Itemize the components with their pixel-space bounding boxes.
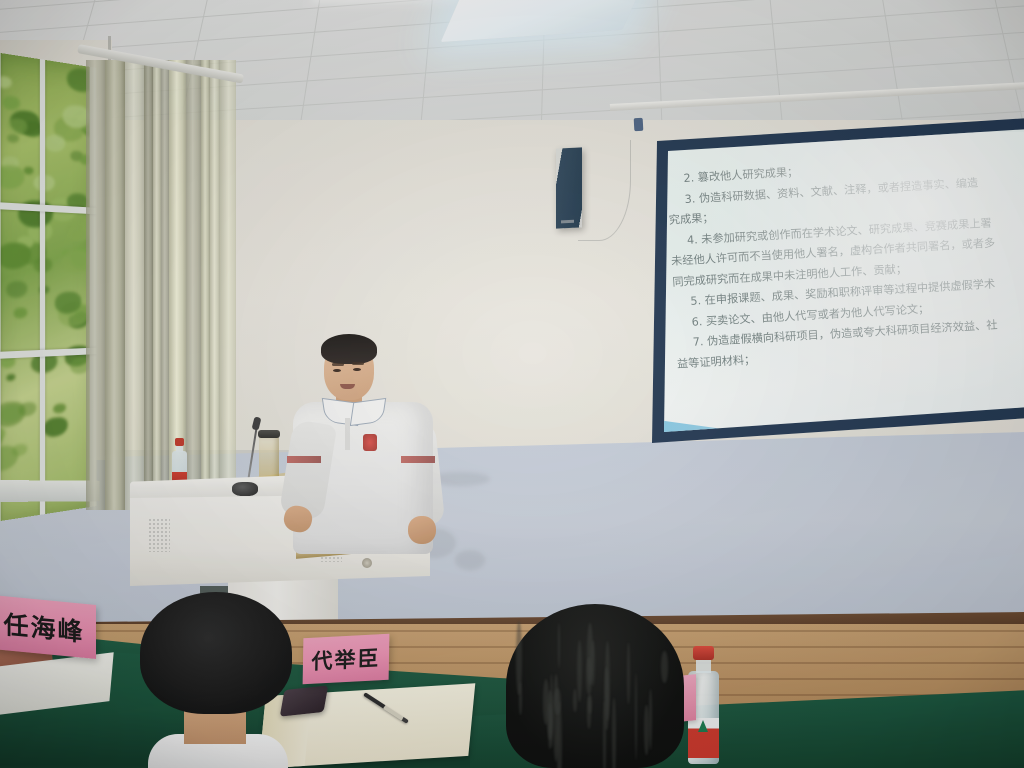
foliage-leaf	[53, 403, 66, 414]
audience-hair	[140, 592, 292, 714]
foliage-leaf	[0, 242, 31, 269]
window-sill	[0, 480, 100, 502]
polo-placket	[345, 418, 350, 450]
window-curtain	[86, 60, 236, 510]
window-mullion	[0, 52, 1, 522]
foliage-leaf	[0, 75, 11, 89]
hair-strand	[612, 698, 616, 768]
hair-strand	[573, 689, 577, 712]
slide-text-block: 2. 篡改他人研究成果；3. 伪造科研数据、资料、文献、注释，或者捏造事实、编造…	[666, 148, 1024, 375]
curtain-fold	[125, 60, 144, 510]
foliage-leaf	[44, 417, 68, 438]
curtain-fold	[210, 60, 220, 510]
hair-strand	[627, 643, 630, 705]
foliage-leaf	[7, 134, 19, 144]
speaker-badge	[561, 220, 574, 224]
foliage-leaf	[0, 400, 25, 428]
name-placard-dai-juchen: 代举臣	[303, 634, 390, 685]
curtain-fold	[105, 60, 125, 510]
bottle-cap	[693, 646, 714, 660]
sleeve-trim	[287, 456, 321, 463]
projection-screen: 2. 篡改他人研究成果；3. 伪造科研数据、资料、文献、注释，或者捏造事实、编造…	[630, 118, 1024, 448]
hair-strand	[516, 621, 522, 695]
tumbler-lid	[258, 430, 280, 438]
foliage-leaf	[44, 134, 65, 153]
presenter-right-hand	[408, 516, 436, 544]
ceiling-light-glow	[310, 0, 475, 2]
foliage-leaf	[0, 444, 18, 473]
foliage-leaf	[7, 118, 27, 135]
window-mullion	[40, 59, 45, 515]
foliage-leaf	[0, 164, 24, 189]
sleeve-trim	[401, 456, 435, 463]
bottle-cap	[175, 438, 184, 446]
lectern-speaker-grille	[148, 518, 170, 552]
hair-strand	[644, 705, 649, 755]
hair-strand	[649, 689, 652, 750]
hair-strand	[548, 703, 551, 749]
curtain-fold	[86, 60, 105, 510]
hair-strand	[586, 657, 593, 695]
microphone-base	[232, 482, 258, 496]
curtain-fold	[186, 60, 200, 510]
screen-surface: 2. 篡改他人研究成果；3. 伪造科研数据、资料、文献、注释，或者捏造事实、编造…	[630, 118, 1024, 448]
classroom-photo-scene: 2. 篡改他人研究成果；3. 伪造科研数据、资料、文献、注释，或者捏造事实、编造…	[0, 0, 1024, 768]
hair-strand	[661, 651, 668, 683]
bottle-logo-icon	[698, 720, 708, 732]
name-placard-ren-haifeng: 任海峰	[0, 595, 96, 659]
hair-strand	[605, 641, 610, 722]
presenter	[288, 330, 448, 560]
audience-member-front-right	[506, 604, 684, 768]
curtain-fold	[161, 60, 169, 510]
window	[0, 52, 96, 522]
curtain-fold	[153, 60, 161, 510]
foliage-leaf	[6, 374, 15, 381]
foliage-leaf	[2, 95, 20, 111]
audience-member-front-left	[140, 592, 292, 768]
curtain-fold	[220, 60, 236, 510]
audience-long-hair	[506, 604, 684, 768]
wall-mounted-speaker	[556, 147, 582, 228]
presenter-hair	[321, 334, 377, 364]
shirt-emblem-icon	[363, 434, 377, 451]
curtain-fold	[144, 60, 153, 510]
foliage-leaf	[6, 281, 27, 298]
curtain-fold	[201, 60, 211, 510]
foliage-leaf	[23, 166, 34, 175]
foliage-leaf	[13, 307, 27, 318]
